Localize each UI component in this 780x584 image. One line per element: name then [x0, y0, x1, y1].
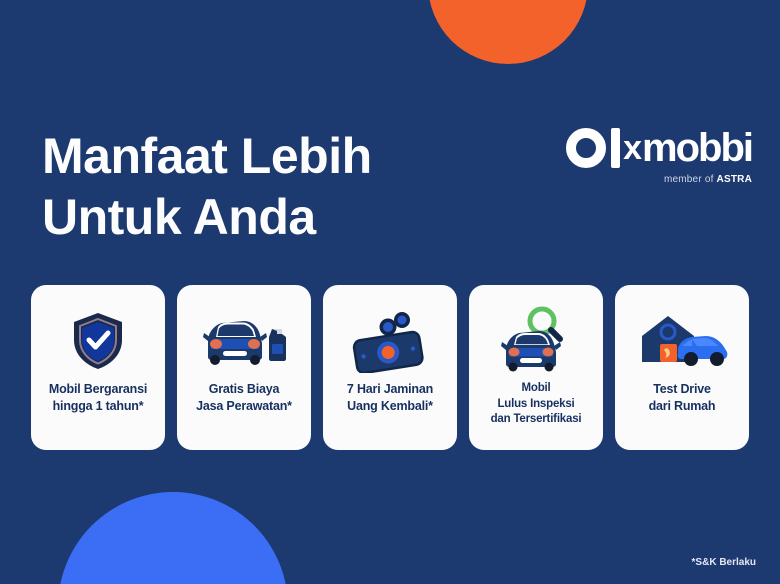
logo-mark: x mobbi [540, 128, 752, 168]
benefit-card-warranty[interactable]: Mobil Bergaransi hingga 1 tahun* [31, 285, 165, 450]
benefit-card-inspection[interactable]: Mobil Lulus Inspeksi dan Tersertifikasi [469, 285, 603, 450]
benefit-card-test-drive[interactable]: Test Drive dari Rumah [615, 285, 749, 450]
benefit-label-line-3: dan Tersertifikasi [491, 413, 582, 425]
terms-footnote: *S&K Berlaku [692, 557, 756, 568]
logo-bar-icon [611, 128, 620, 168]
benefit-label-line-1: Mobil Bergaransi [49, 382, 147, 396]
benefit-label-line-1: 7 Hari Jaminan [347, 382, 433, 396]
benefit-card-money-back[interactable]: 7 Hari Jaminan Uang Kembali* [323, 285, 457, 450]
car-magnifier-icon [497, 307, 575, 375]
banner-stage: Manfaat Lebih Untuk Anda x mobbi member … [0, 0, 780, 584]
logo-o-icon [566, 128, 606, 168]
benefit-label-line-1: Gratis Biaya [209, 382, 280, 396]
house-car-icon [634, 307, 730, 375]
logo-subtitle: member of ASTRA [540, 174, 752, 185]
page-title: Manfaat Lebih Untuk Anda [42, 126, 372, 248]
car-oil-bottle-icon [198, 307, 290, 375]
headline-line-1: Manfaat Lebih [42, 128, 372, 184]
benefit-card-label: Mobil Bergaransi hingga 1 tahun* [49, 381, 147, 415]
benefit-label-line-2: hingga 1 tahun* [53, 399, 144, 413]
benefit-label-line-2: Uang Kembali* [347, 399, 433, 413]
logo-subtitle-prefix: member of [664, 174, 714, 185]
headline-line-2: Untuk Anda [42, 187, 372, 248]
benefit-label-line-1: Mobil [521, 382, 550, 394]
benefit-label-line-2: dari Rumah [649, 399, 716, 413]
banknote-coins-icon [346, 307, 434, 375]
benefit-label-line-2: Lulus Inspeksi [497, 398, 574, 410]
benefit-card-label: Gratis Biaya Jasa Perawatan* [196, 381, 292, 415]
brand-logo: x mobbi member of ASTRA [540, 128, 752, 185]
benefit-label-line-2: Jasa Perawatan* [196, 399, 292, 413]
shield-check-icon [69, 307, 127, 375]
logo-x-letter: x [623, 128, 641, 168]
benefit-card-label: Test Drive dari Rumah [649, 381, 716, 415]
benefit-card-list: Mobil Bergaransi hingga 1 tahun* [31, 285, 749, 450]
logo-wordmark: mobbi [642, 128, 752, 168]
benefit-card-service[interactable]: Gratis Biaya Jasa Perawatan* [177, 285, 311, 450]
benefit-card-label: 7 Hari Jaminan Uang Kembali* [347, 381, 433, 415]
blue-circle [58, 492, 288, 584]
orange-circle [428, 0, 588, 64]
benefit-label-line-1: Test Drive [653, 382, 711, 396]
logo-subtitle-brand: ASTRA [717, 174, 752, 185]
benefit-card-label: Mobil Lulus Inspeksi dan Tersertifikasi [491, 381, 582, 428]
